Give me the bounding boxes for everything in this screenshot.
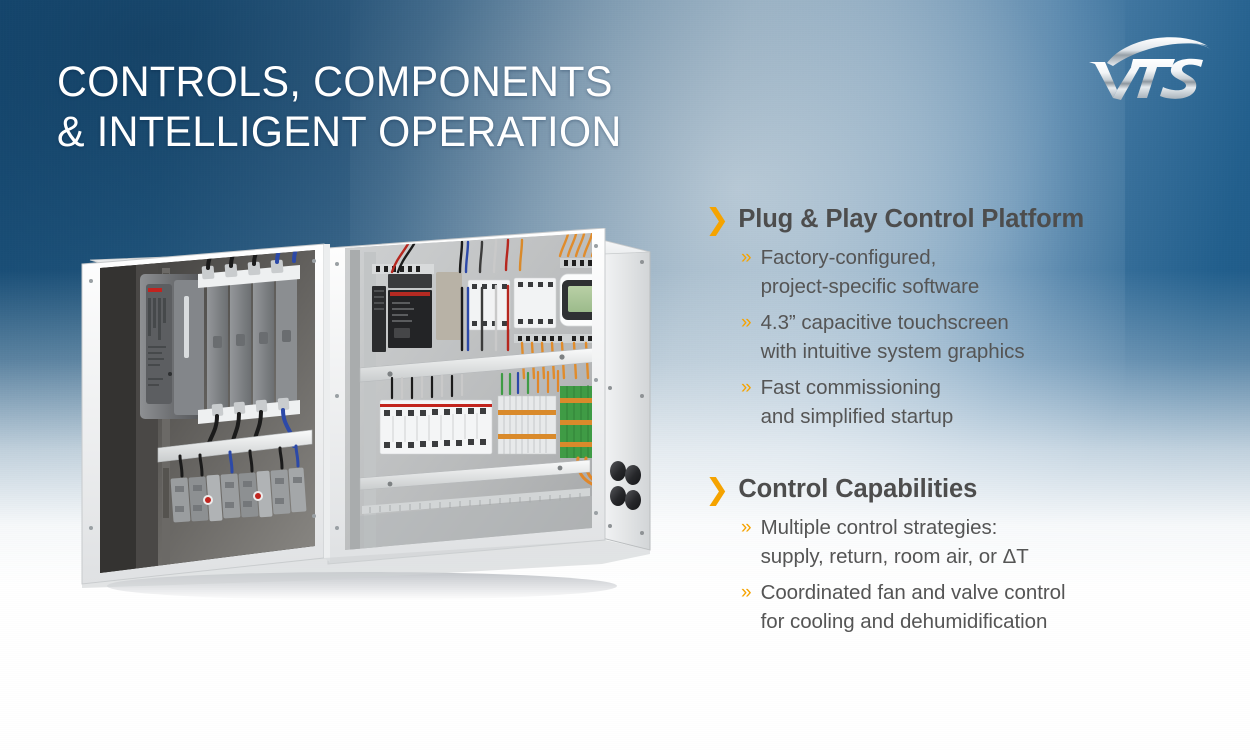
list-item: » Fast commissioning and simplified star… [741, 374, 1155, 431]
section-heading-row: ❯ Plug & Play Control Platform [705, 205, 1155, 234]
section-heading-row: ❯ Control Capabilities [705, 475, 1155, 504]
list-item: » 4.3” capacitive touchscreen with intui… [741, 309, 1155, 366]
section-control-capabilities: ❯ Control Capabilities » Multiple contro… [705, 475, 1155, 636]
section-heading: Plug & Play Control Platform [738, 205, 1084, 234]
bullet-text: Fast commissioning and simplified startu… [761, 374, 954, 431]
double-chevron-icon: » [741, 309, 752, 336]
double-chevron-icon: » [741, 579, 752, 606]
mcb-group-bottom [380, 400, 492, 454]
bullet-text: 4.3” capacitive touchscreen with intuiti… [761, 309, 1025, 366]
slide-root: CONTROLS, COMPONENTS & INTELLIGENT OPERA… [0, 0, 1250, 750]
bullet-text: Factory-configured, project-specific sof… [761, 244, 980, 301]
left-panel-interior [100, 228, 315, 573]
double-chevron-icon: » [741, 514, 752, 541]
plc-module [372, 286, 386, 352]
double-chevron-icon: » [741, 244, 752, 271]
soft-starter [388, 290, 432, 348]
din-terminal-blocks [498, 395, 556, 454]
bullet-text: Coordinated fan and valve control for co… [761, 579, 1066, 636]
logo-wordmark [1089, 59, 1203, 100]
bullet-list: » Multiple control strategies: supply, r… [705, 514, 1155, 636]
vts-logo [1083, 28, 1218, 106]
control-cabinet-image [62, 228, 662, 608]
chevron-right-icon: ❯ [705, 476, 729, 504]
list-item: » Multiple control strategies: supply, r… [741, 514, 1155, 571]
feature-content: ❯ Plug & Play Control Platform » Factory… [705, 205, 1155, 644]
slide-title: CONTROLS, COMPONENTS & INTELLIGENT OPERA… [57, 57, 729, 157]
list-item: » Coordinated fan and valve control for … [741, 579, 1155, 636]
section-plug-and-play: ❯ Plug & Play Control Platform » Factory… [705, 205, 1155, 431]
double-chevron-icon: » [741, 374, 752, 401]
bullet-list: » Factory-configured, project-specific s… [705, 244, 1155, 431]
bullet-text: Multiple control strategies: supply, ret… [761, 514, 1029, 571]
list-item: » Factory-configured, project-specific s… [741, 244, 1155, 301]
section-heading: Control Capabilities [738, 475, 977, 504]
chevron-right-icon: ❯ [705, 206, 729, 234]
